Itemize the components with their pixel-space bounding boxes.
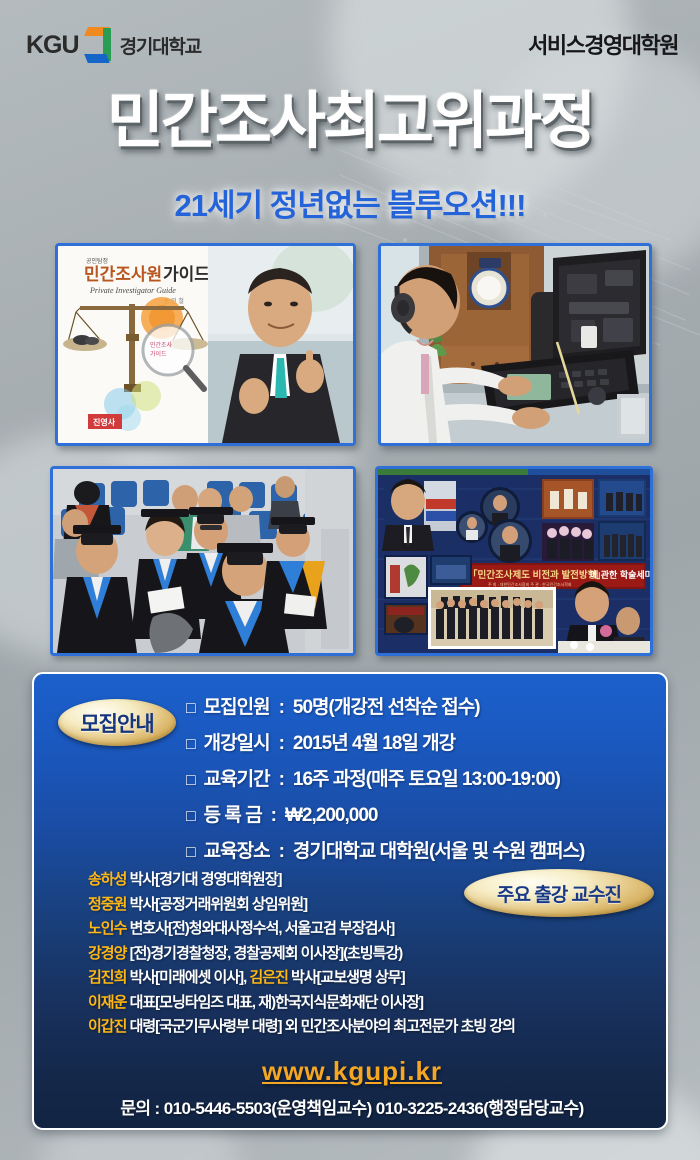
faculty-name: 송하성 <box>88 871 126 888</box>
seminar-collage-photo: 「민간조사제도 비전과 발전방향」 에 관한 학술세미나 주 최 : 대한민간조… <box>375 466 653 656</box>
faculty-item: 송하성 박사[경기대 경영대학원장] <box>88 868 668 893</box>
recruit-info-list: □ 모집인원 : 50명(개강전 선착순 접수) □ 개강일시 : 2015년 … <box>186 692 656 872</box>
poster-root: KGU 경기대학교 서비스경영대학원 민간조사최고위과정 21세기 정년없는 블… <box>0 0 700 1160</box>
faculty-item: 이갑진 대령[국군기무사령부 대령] 외 민간조사분야의 최고전문가 초빙 강의 <box>88 1015 668 1040</box>
info-label: 모집인원 <box>204 692 270 719</box>
info-value: 50명(개강전 선착순 접수) <box>293 692 480 719</box>
checkbox-icon: □ <box>186 808 195 826</box>
svg-text:「민간조사제도 비전과 발전방향」: 「민간조사제도 비전과 발전방향」 <box>468 569 606 581</box>
info-value: ₩2,200,000 <box>285 805 377 827</box>
info-separator: : <box>271 805 276 827</box>
surveillance-equipment-photo <box>378 243 652 446</box>
svg-text:공인탐정: 공인탐정 <box>86 257 108 265</box>
info-value: 16주 과정(매주 토요일 13:00-19:00) <box>293 764 560 791</box>
faculty-name: 정중원 <box>88 896 126 913</box>
faculty-item: 이재운 대표[모닝타임즈 대표, 재)한국지식문화재단 이사장] <box>88 991 668 1016</box>
faculty-detail: 박사[미래에셋 이사], <box>126 969 249 986</box>
info-value: 경기대학교 대학원(서울 및 수원 캠퍼스) <box>293 836 584 863</box>
info-label: 등 록 금 <box>204 800 262 827</box>
graduate-school-name: 서비스경영대학원 <box>528 28 678 60</box>
contact-info: 문의 : 010-5446-5503(운영책임교수) 010-3225-2436… <box>34 1094 670 1119</box>
faculty-detail: 박사[경기대 경영대학원장] <box>126 871 281 888</box>
faculty-name: 김진희 <box>88 969 126 986</box>
book-and-speaker-photo: 공인탐정 민간조사원 가이드 Private Investigator Guid… <box>55 243 356 446</box>
faculty-name: 노인수 <box>88 920 126 937</box>
checkbox-icon: □ <box>186 772 195 790</box>
faculty-list: 송하성 박사[경기대 경영대학원장] 정중원 박사[공정거래위원회 상임위원] … <box>88 868 668 1040</box>
checkbox-icon: □ <box>186 736 195 754</box>
info-label: 교육기간 <box>204 764 270 791</box>
svg-text:가이드: 가이드 <box>150 350 167 358</box>
poster-header: KGU 경기대학교 서비스경영대학원 <box>0 0 700 82</box>
svg-text:민간조사원: 민간조사원 <box>84 265 162 284</box>
recruit-badge: 모집안내 <box>58 699 176 746</box>
faculty-detail: 대표[모닝타임즈 대표, 재)한국지식문화재단 이사장] <box>126 994 423 1011</box>
info-value: 2015년 4월 18일 개강 <box>293 728 455 755</box>
faculty-name-secondary: 김은진 <box>249 969 287 986</box>
svg-text:가이드: 가이드 <box>163 265 210 284</box>
faculty-item: 강경양 [전)경기경찰청장, 경찰공제회 이사장](초빙특강) <box>88 942 668 967</box>
info-separator: : <box>279 733 284 755</box>
university-name: 경기대학교 <box>120 32 201 59</box>
sub-title: 21세기 정년없는 블루오션!!! <box>0 180 700 225</box>
info-item: □ 교육장소 : 경기대학교 대학원(서울 및 수원 캠퍼스) <box>186 836 656 872</box>
info-item: □ 등 록 금 : ₩2,200,000 <box>186 800 656 836</box>
main-title: 민간조사최고위과정 <box>0 84 700 160</box>
university-logo: KGU 경기대학교 <box>26 27 201 63</box>
info-panel: 모집안내 □ 모집인원 : 50명(개강전 선착순 접수) □ 개강일시 : 2… <box>32 672 668 1130</box>
checkbox-icon: □ <box>186 700 195 718</box>
svg-text:민간조사: 민간조사 <box>150 341 173 349</box>
faculty-name: 이갑진 <box>88 1018 126 1035</box>
faculty-item: 정중원 박사[공정거래위원회 상임위원] <box>88 893 668 918</box>
svg-text:진영사: 진영사 <box>93 417 116 427</box>
faculty-item: 노인수 변호사[전)청와대사정수석, 서울고검 부장검사] <box>88 917 668 942</box>
graduation-ceremony-photo <box>50 466 356 656</box>
faculty-detail: 대령[국군기무사령부 대령] 외 민간조사분야의 최고전문가 초빙 강의 <box>126 1018 515 1035</box>
info-separator: : <box>279 841 284 863</box>
faculty-detail-secondary: 박사[교보생명 상무] <box>288 969 405 986</box>
info-separator: : <box>279 769 284 791</box>
svg-text:주 최 : 대한민간조사협회 주 관 : 한국민간조사학: 주 최 : 대한민간조사협회 주 관 : 한국민간조사학회 <box>488 581 572 587</box>
faculty-detail: [전)경기경찰청장, 경찰공제회 이사장](초빙특강) <box>126 945 402 962</box>
faculty-detail: 박사[공정거래위원회 상임위원] <box>126 896 307 913</box>
info-separator: : <box>279 697 284 719</box>
faculty-name: 이재운 <box>88 994 126 1011</box>
faculty-detail: 변호사[전)청와대사정수석, 서울고검 부장검사] <box>126 920 394 937</box>
kgu-mark-icon <box>86 27 111 63</box>
info-label: 개강일시 <box>204 728 270 755</box>
info-item: □ 교육기간 : 16주 과정(매주 토요일 13:00-19:00) <box>186 764 656 800</box>
info-item: □ 개강일시 : 2015년 4월 18일 개강 <box>186 728 656 764</box>
faculty-name: 강경양 <box>88 945 126 962</box>
faculty-item: 김진희 박사[미래에셋 이사], 김은진 박사[교보생명 상무] <box>88 966 668 991</box>
svg-text:에 관한 학술세미나: 에 관한 학술세미나 <box>590 569 650 580</box>
info-label: 교육장소 <box>204 836 270 863</box>
checkbox-icon: □ <box>186 844 195 862</box>
svg-text:Private Investigator Guide: Private Investigator Guide <box>89 286 176 295</box>
info-item: □ 모집인원 : 50명(개강전 선착순 접수) <box>186 692 656 728</box>
website-link[interactable]: www.kgupi.kr <box>34 1056 670 1087</box>
logo-kgu-text: KGU <box>26 31 79 60</box>
